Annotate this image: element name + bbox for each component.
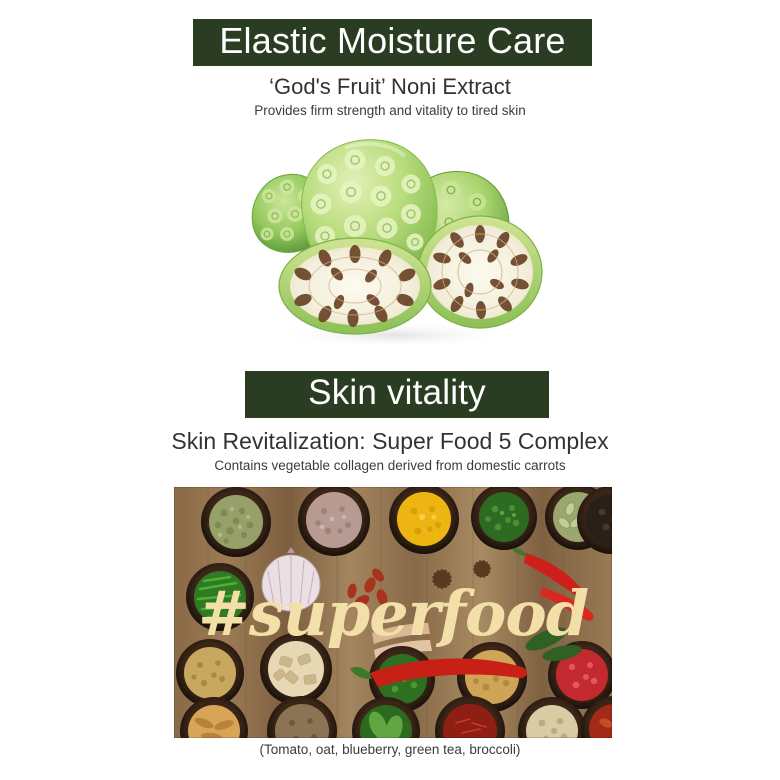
product-infographic-page: Elastic Moisture Care ‘God's Fruit’ Noni…: [0, 0, 780, 780]
bowl-parsley: [471, 487, 537, 550]
section-two-subtitle-block: Skin Revitalization: Super Food 5 Comple…: [0, 428, 780, 475]
elastic-moisture-care-banner: Elastic Moisture Care: [193, 19, 592, 66]
bowl-turmeric: [389, 487, 459, 554]
bowl-pink-salt: [298, 487, 370, 556]
superfood-ingredients-caption: (Tomato, oat, blueberry, green tea, broc…: [0, 742, 780, 757]
section-one-subtitle-block: ‘God's Fruit’ Noni Extract Provides firm…: [0, 74, 780, 119]
skin-vitality-banner: Skin vitality: [245, 371, 549, 418]
noni-half-right: [418, 216, 542, 328]
noni-extract-description: Provides firm strength and vitality to t…: [0, 103, 780, 119]
superfood-image: #superfood: [174, 487, 612, 738]
superfood-complex-description: Contains vegetable collagen derived from…: [0, 458, 780, 474]
bowl-fenugreek: [176, 639, 244, 707]
bowl-oregano: [201, 487, 271, 557]
spice-bowls-illustration: [174, 487, 612, 738]
noni-fruit-image: [245, 130, 545, 352]
bowl-dried-ginger: [260, 633, 332, 705]
noni-half-left: [279, 238, 431, 334]
noni-extract-subtitle: ‘God's Fruit’ Noni Extract: [0, 74, 780, 99]
superfood-complex-subtitle: Skin Revitalization: Super Food 5 Comple…: [0, 428, 780, 454]
bowl-chives: [186, 563, 254, 631]
noni-fruit-illustration: [245, 130, 545, 352]
